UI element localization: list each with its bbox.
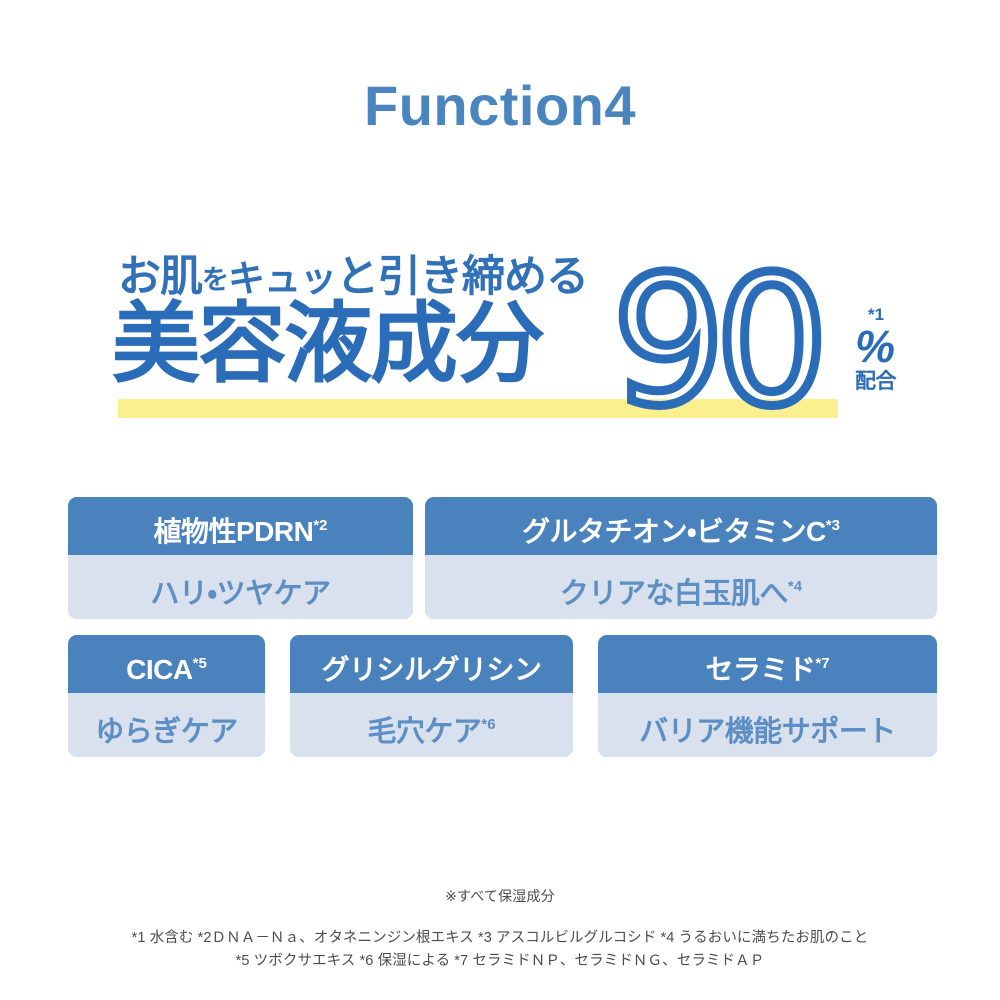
card-header-label: グルタチオン・ビタミンC xyxy=(522,516,826,547)
footnote-line-2: *5 ツボクサエキス *6 保湿による *7 セラミドＮＰ、セラミドＮＧ、セラミ… xyxy=(0,950,1000,973)
headline-lead-particle: を xyxy=(202,265,228,295)
card-gap xyxy=(413,497,425,619)
card-body: クリアな白玉肌へ*4 xyxy=(425,555,937,619)
page-title: Function4 xyxy=(0,78,1000,134)
card-body-label: バリア機能サポート xyxy=(639,716,896,748)
card-body: ゆらぎケア xyxy=(68,693,265,757)
card-header: グルタチオン・ビタミンC*3 xyxy=(425,497,937,555)
percent-suffix-label: 配合 xyxy=(855,371,896,392)
card-header-label: グリシルグリシン xyxy=(321,654,541,685)
card-header: グリシルグリシン xyxy=(290,635,573,693)
card-body: 毛穴ケア*6 xyxy=(290,693,573,757)
card-header-label: CICA xyxy=(126,654,192,685)
ingredient-card-cica[interactable]: CICA*5 ゆらぎケア xyxy=(68,635,265,757)
percentage-unit-stack: *1 % 配合 xyxy=(855,306,896,392)
headline-lead: お肌をキュッと引き締める xyxy=(118,256,588,299)
headline-main-text: 美容液成分 xyxy=(112,300,542,388)
card-header: CICA*5 xyxy=(68,635,265,693)
card-row-1: 植物性PDRN*2 ハリ・ツヤケア グルタチオン・ビタミンC*3 クリアな白玉肌… xyxy=(68,497,937,619)
card-body-footnote: *6 xyxy=(481,716,495,733)
card-body-label: ゆらぎケア xyxy=(95,716,238,748)
card-body-label: ハリ・ツヤケア xyxy=(150,578,330,610)
card-body-label: 毛穴ケア xyxy=(367,716,481,748)
headline-lead-kana: キュッ xyxy=(228,258,336,299)
card-gap xyxy=(265,635,290,757)
footnote-line-1: *1 水含む *2ＤＮＡ－Ｎａ、オタネニンジン根エキス *3 アスコルビルグルコ… xyxy=(0,927,1000,950)
card-header-label: 植物性PDRN xyxy=(153,516,313,547)
ingredient-card-pdrn[interactable]: 植物性PDRN*2 ハリ・ツヤケア xyxy=(68,497,413,619)
headline-block: お肌をキュッと引き締める 美容液成分 90 *1 % 配合 xyxy=(0,248,1000,438)
card-header-label: セラミド xyxy=(705,654,815,685)
card-row-2: CICA*5 ゆらぎケア グリシルグリシン 毛穴ケア*6 セラミド*7 バリア機… xyxy=(68,635,937,757)
footnote-list: *1 水含む *2ＤＮＡ－Ｎａ、オタネニンジン根エキス *3 アスコルビルグルコ… xyxy=(0,927,1000,974)
card-body-footnote: *4 xyxy=(788,578,802,595)
ingredient-card-glutathione-vitaminc[interactable]: グルタチオン・ビタミンC*3 クリアな白玉肌へ*4 xyxy=(425,497,937,619)
ingredient-card-ceramide[interactable]: セラミド*7 バリア機能サポート xyxy=(598,635,937,757)
card-body: ハリ・ツヤケア xyxy=(68,555,413,619)
card-body-label: クリアな白玉肌へ xyxy=(560,578,788,610)
card-header-footnote: *7 xyxy=(815,655,829,672)
note-moisturizing-ingredients: ※すべて保湿成分 xyxy=(0,886,1000,906)
percent-symbol: % xyxy=(855,324,896,369)
ingredient-card-glycylglycine[interactable]: グリシルグリシン 毛穴ケア*6 xyxy=(290,635,573,757)
card-header-footnote: *3 xyxy=(826,517,840,534)
card-header: 植物性PDRN*2 xyxy=(68,497,413,555)
card-header-footnote: *5 xyxy=(193,655,207,672)
card-header: セラミド*7 xyxy=(598,635,937,693)
card-gap xyxy=(573,635,598,757)
card-header-footnote: *2 xyxy=(313,517,327,534)
card-body: バリア機能サポート xyxy=(598,693,937,757)
big-percentage-number: 90 xyxy=(612,253,819,431)
infographic-page: Function4 お肌をキュッと引き締める 美容液成分 90 *1 % 配合 … xyxy=(0,0,1000,1000)
